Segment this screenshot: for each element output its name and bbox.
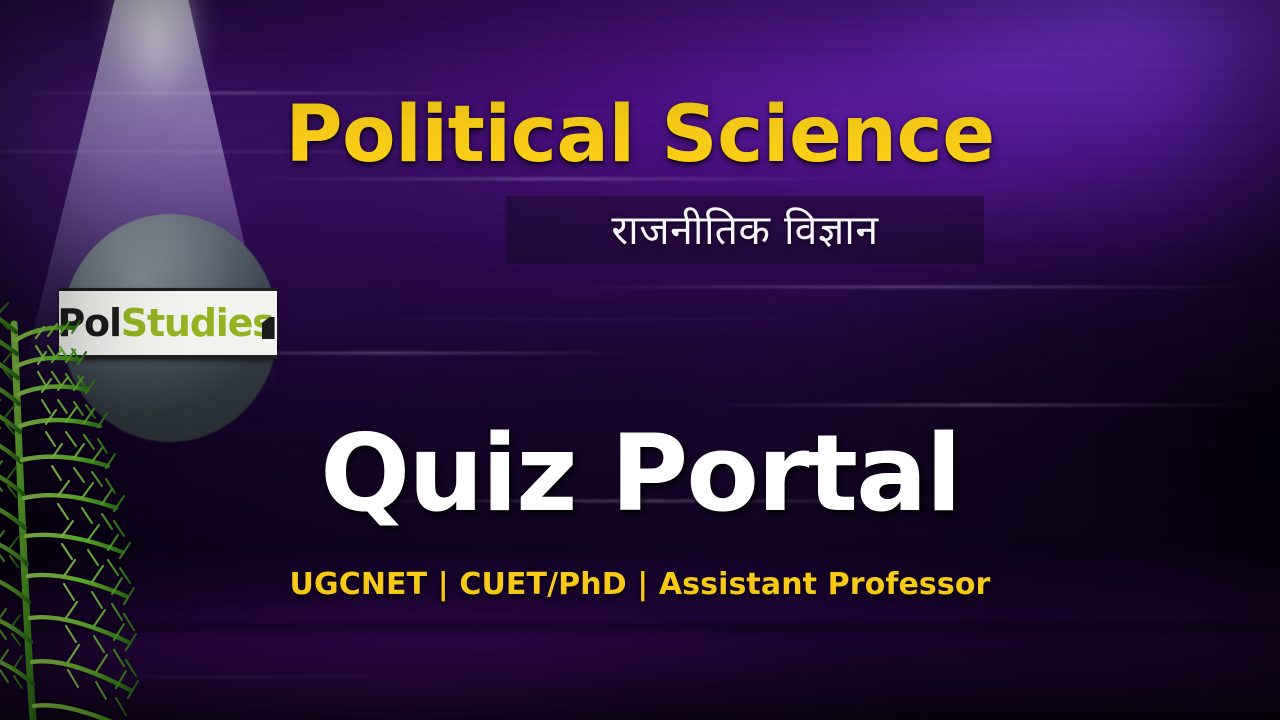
logo-text-primary: Pol [59,301,121,345]
hindi-subtitle-panel: राजनीतिक विज्ञान [506,196,984,264]
background-bottom-shadow [0,624,1280,720]
background-seam-line [0,624,1280,634]
banner-canvas: PolStudies [0,0,1280,720]
page-title: Political Science [0,96,1280,174]
brand-logo[interactable]: PolStudies [62,214,278,442]
logo-nameplate: PolStudies [59,288,277,359]
portal-tagline: UGCNET | CUET/PhD | Assistant Professor [0,570,1280,600]
portal-heading: Quiz Portal [0,421,1280,527]
logo-wordmark: PolStudies [59,304,275,342]
hindi-subtitle: राजनीतिक विज्ञान [611,210,878,251]
logo-text-secondary: Studies [121,301,274,345]
